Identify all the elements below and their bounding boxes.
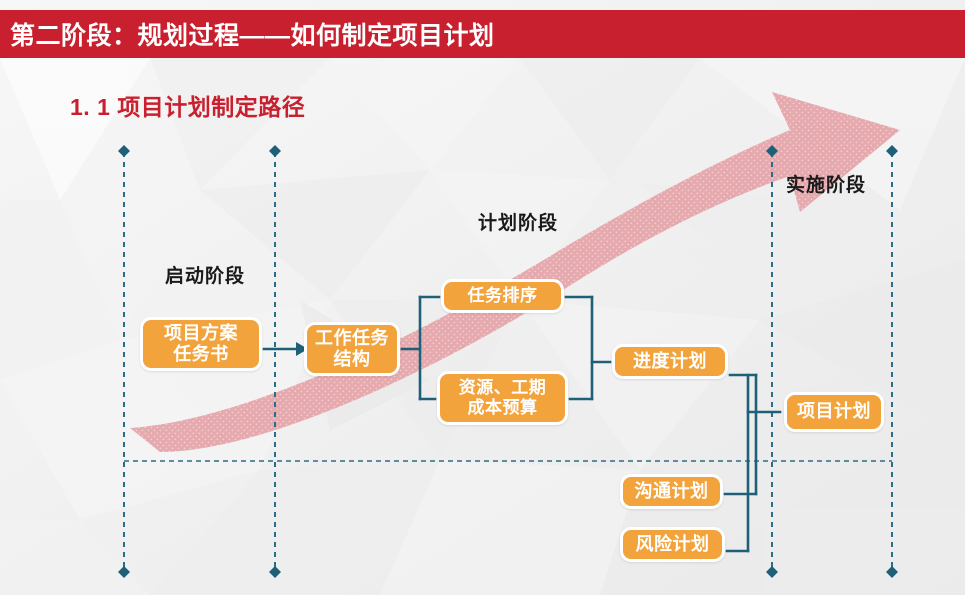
node-project-plan[interactable]: 项目计划 [784, 392, 884, 432]
phase-label-planning: 计划阶段 [478, 208, 558, 235]
node-risk-plan[interactable]: 风险计划 [620, 527, 725, 562]
node-project-charter[interactable]: 项目方案 任务书 [140, 317, 262, 371]
node-task-sequencing[interactable]: 任务排序 [441, 279, 564, 313]
node-resource-budget[interactable]: 资源、工期 成本预算 [437, 371, 568, 425]
node-wbs[interactable]: 工作任务 结构 [304, 322, 400, 376]
phase-label-start: 启动阶段 [165, 261, 245, 288]
node-schedule-plan[interactable]: 进度计划 [612, 344, 728, 379]
phase-label-execution: 实施阶段 [786, 170, 866, 197]
node-communication-plan[interactable]: 沟通计划 [620, 474, 723, 509]
slide-canvas: 第二阶段：规划过程——如何制定项目计划 1. 1 项目计划制定路径 [0, 0, 965, 595]
